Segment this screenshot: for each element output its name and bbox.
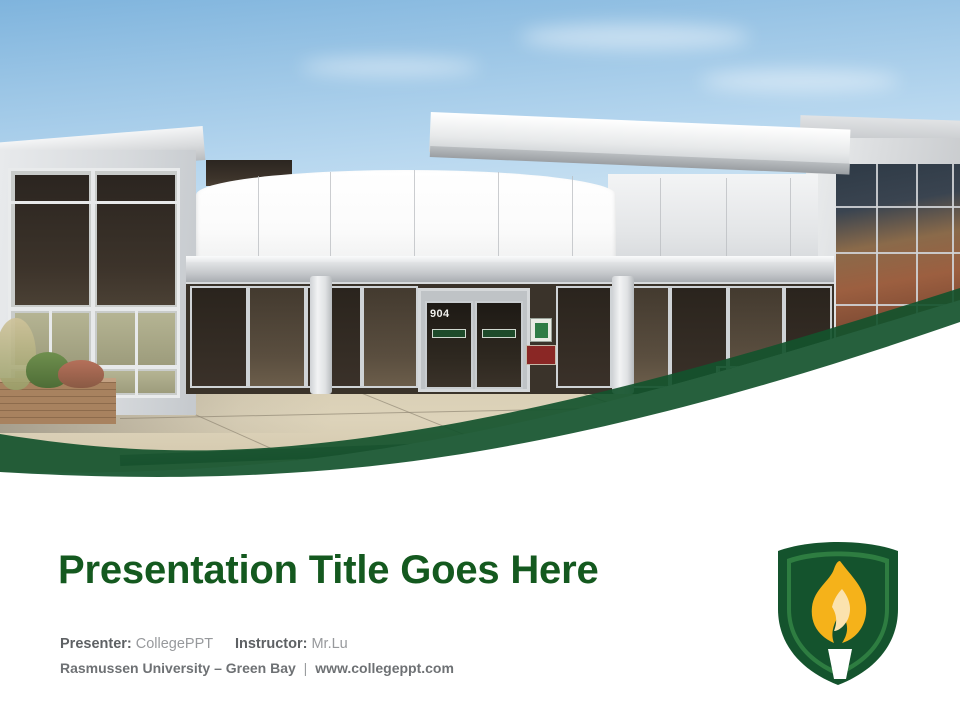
hero-photo: 904: [0, 0, 960, 500]
canopy-column: [612, 276, 634, 394]
handrail: [716, 366, 812, 390]
door-sign: [432, 329, 466, 338]
presenter-line: Presenter: CollegePPT Instructor: Mr.Lu: [60, 636, 348, 653]
canopy-column: [310, 276, 332, 394]
presenter-label: Presenter:: [60, 636, 132, 652]
window-mullion: [11, 201, 179, 204]
entry-doors: [418, 288, 530, 392]
glass-pane: [15, 175, 89, 305]
website-link[interactable]: www.collegeppt.com: [315, 660, 454, 676]
storefront-pane: [670, 286, 728, 388]
entry-room-sign: [526, 345, 556, 365]
storefront-pane: [784, 286, 832, 388]
cloud-wisp: [300, 58, 480, 76]
meta-separator: |: [300, 660, 312, 676]
storefront-pane: [728, 286, 784, 388]
window-mullion: [916, 164, 918, 362]
flowering-plant: [58, 360, 104, 388]
hero-photo-clip: 904: [0, 0, 960, 500]
cloud-wisp: [520, 24, 750, 50]
plaza-seam: [580, 392, 843, 489]
window-mullion: [836, 206, 960, 208]
storefront-pane: [248, 286, 306, 388]
instructor-label: Instructor:: [235, 636, 308, 652]
page-title: Presentation Title Goes Here: [58, 548, 599, 592]
storefront-pane: [362, 286, 418, 388]
storefront-pane: [190, 286, 248, 388]
presenter-value: CollegePPT: [136, 636, 213, 652]
institution-line: Rasmussen University – Green Bay | www.c…: [60, 660, 454, 677]
entry-wall-sign: [530, 318, 552, 342]
window-mullion: [135, 307, 138, 397]
cloud-wisp: [700, 70, 900, 92]
door-sign: [482, 329, 516, 338]
door-number: 904: [430, 308, 450, 320]
window-mullion: [876, 164, 878, 362]
storefront-pane: [556, 286, 612, 388]
entry-canopy: [186, 262, 834, 282]
window-mullion: [836, 304, 960, 306]
title-slide: 904 Presentation Title Goes Here Present…: [0, 0, 960, 720]
window-mullion: [952, 164, 954, 362]
instructor-value: Mr.Lu: [311, 636, 347, 652]
entry-door-leaf: [475, 301, 523, 389]
window-mullion: [836, 252, 960, 254]
glass-pane: [97, 175, 175, 305]
window-mullion: [11, 307, 179, 311]
institution-name: Rasmussen University – Green Bay: [60, 660, 296, 676]
rasmussen-shield-logo: [772, 533, 904, 689]
right-wing-glass: [836, 164, 960, 362]
